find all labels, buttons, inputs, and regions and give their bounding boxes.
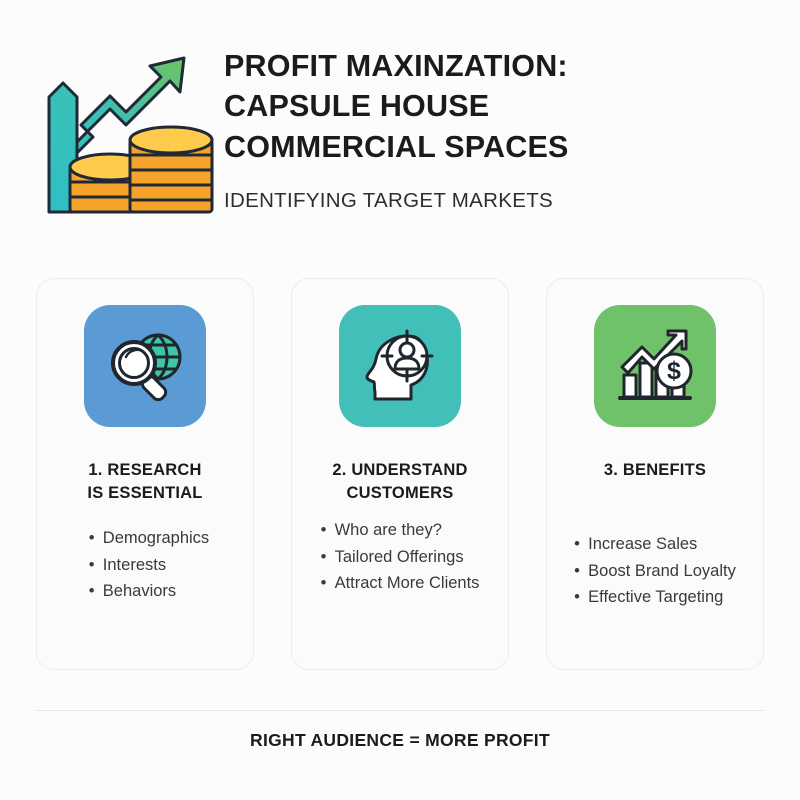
bar-chart-dollar-growth-icon: $ [612, 323, 698, 409]
page-title: PROFIT MAXINZATION: CAPSULE HOUSE COMMER… [224, 46, 770, 167]
card-title-line-1: 3. BENEFITS [604, 459, 706, 482]
magnifier-globe-icon [102, 323, 188, 409]
list-item: Demographics [89, 525, 209, 552]
card-title-line-1: 1. RESEARCH [87, 459, 202, 482]
list-item: Tailored Offerings [321, 544, 480, 571]
card-title-line-2: CUSTOMERS [332, 482, 467, 505]
header: PROFIT MAXINZATION: CAPSULE HOUSE COMMER… [30, 34, 770, 234]
infographic-page: PROFIT MAXINZATION: CAPSULE HOUSE COMMER… [0, 0, 800, 800]
page-title-line-2: CAPSULE HOUSE [224, 86, 770, 126]
list-item: Who are they? [321, 517, 480, 544]
list-item: Effective Targeting [574, 584, 736, 611]
svg-text:$: $ [667, 357, 681, 385]
card-understand-customers[interactable]: 2. UNDERSTAND CUSTOMERS Who are they? Ta… [291, 278, 509, 670]
list-item: Boost Brand Loyalty [574, 558, 736, 585]
header-text-block: PROFIT MAXINZATION: CAPSULE HOUSE COMMER… [216, 34, 770, 213]
magnifier-globe-icon-tile [84, 305, 206, 427]
cards-row: 1. RESEARCH IS ESSENTIAL Demographics In… [36, 278, 764, 670]
bullet-list-research: Demographics Interests Behaviors [89, 525, 209, 605]
head-target-person-icon [357, 323, 443, 409]
page-title-line-1: PROFIT MAXINZATION: [224, 46, 770, 86]
list-item: Interests [89, 552, 209, 579]
card-title-line-1: 2. UNDERSTAND [332, 459, 467, 482]
card-title-research: 1. RESEARCH IS ESSENTIAL [87, 459, 202, 507]
bullet-list-understand-customers: Who are they? Tailored Offerings Attract… [321, 517, 480, 597]
list-item: Behaviors [89, 578, 209, 605]
card-research[interactable]: 1. RESEARCH IS ESSENTIAL Demographics In… [36, 278, 254, 670]
bar-chart-dollar-growth-icon-tile: $ [594, 305, 716, 427]
card-benefits[interactable]: $ 3. BENEFITS Increase Sales Boost Brand… [546, 278, 764, 670]
card-title-benefits: 3. BENEFITS [604, 459, 706, 507]
footer-divider [36, 710, 764, 711]
card-title-understand-customers: 2. UNDERSTAND CUSTOMERS [332, 459, 467, 507]
page-title-line-3: COMMERCIAL SPACES [224, 127, 770, 167]
growth-arrow-coins-icon [30, 34, 216, 224]
head-target-person-icon-tile [339, 305, 461, 427]
list-item: Increase Sales [574, 531, 736, 558]
list-item: Attract More Clients [321, 570, 480, 597]
page-subtitle: IDENTIFYING TARGET MARKETS [224, 189, 770, 214]
bullet-list-benefits: Increase Sales Boost Brand Loyalty Effec… [574, 531, 736, 611]
footer-tagline: RIGHT AUDIENCE = MORE PROFIT [0, 730, 800, 751]
card-title-line-2: IS ESSENTIAL [87, 482, 202, 505]
